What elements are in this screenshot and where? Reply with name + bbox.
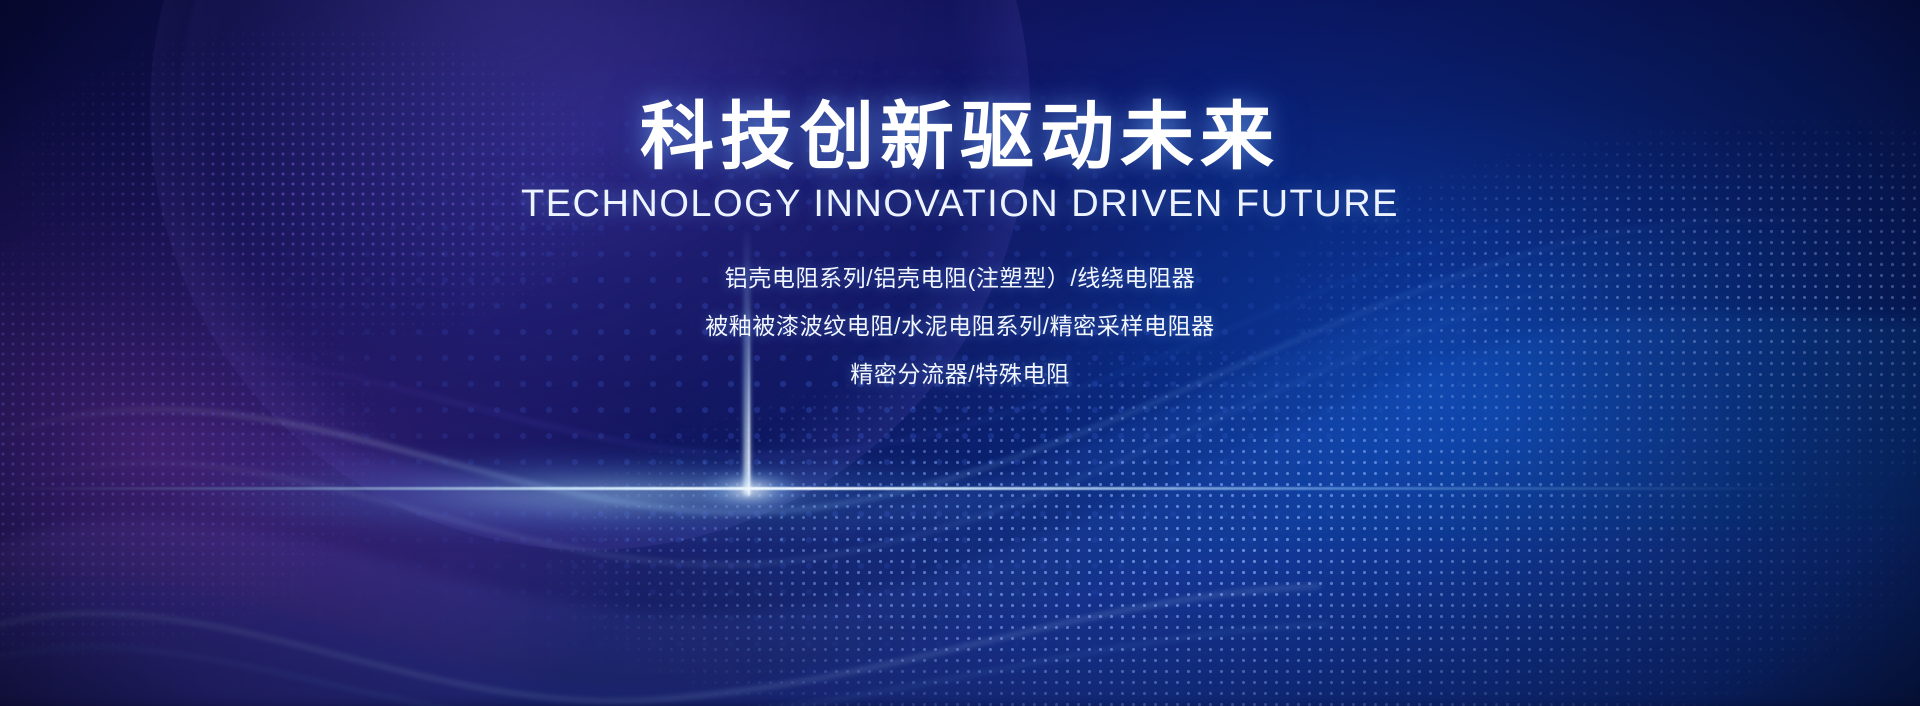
- banner-content: 科技创新驱动未来 TECHNOLOGY INNOVATION DRIVEN FU…: [0, 0, 1920, 706]
- product-line-item: 精密分流器/特殊电阻: [0, 354, 1920, 394]
- product-line-list: 铝壳电阻系列/铝壳电阻(注塑型）/线绕电阻器 被釉被漆波纹电阻/水泥电阻系列/精…: [0, 258, 1920, 394]
- hero-banner: 科技创新驱动未来 TECHNOLOGY INNOVATION DRIVEN FU…: [0, 0, 1920, 706]
- banner-headline-en: TECHNOLOGY INNOVATION DRIVEN FUTURE: [0, 183, 1920, 226]
- banner-headline-cn: 科技创新驱动未来: [0, 97, 1920, 177]
- product-line-item: 被釉被漆波纹电阻/水泥电阻系列/精密采样电阻器: [0, 306, 1920, 346]
- product-line-item: 铝壳电阻系列/铝壳电阻(注塑型）/线绕电阻器: [0, 258, 1920, 298]
